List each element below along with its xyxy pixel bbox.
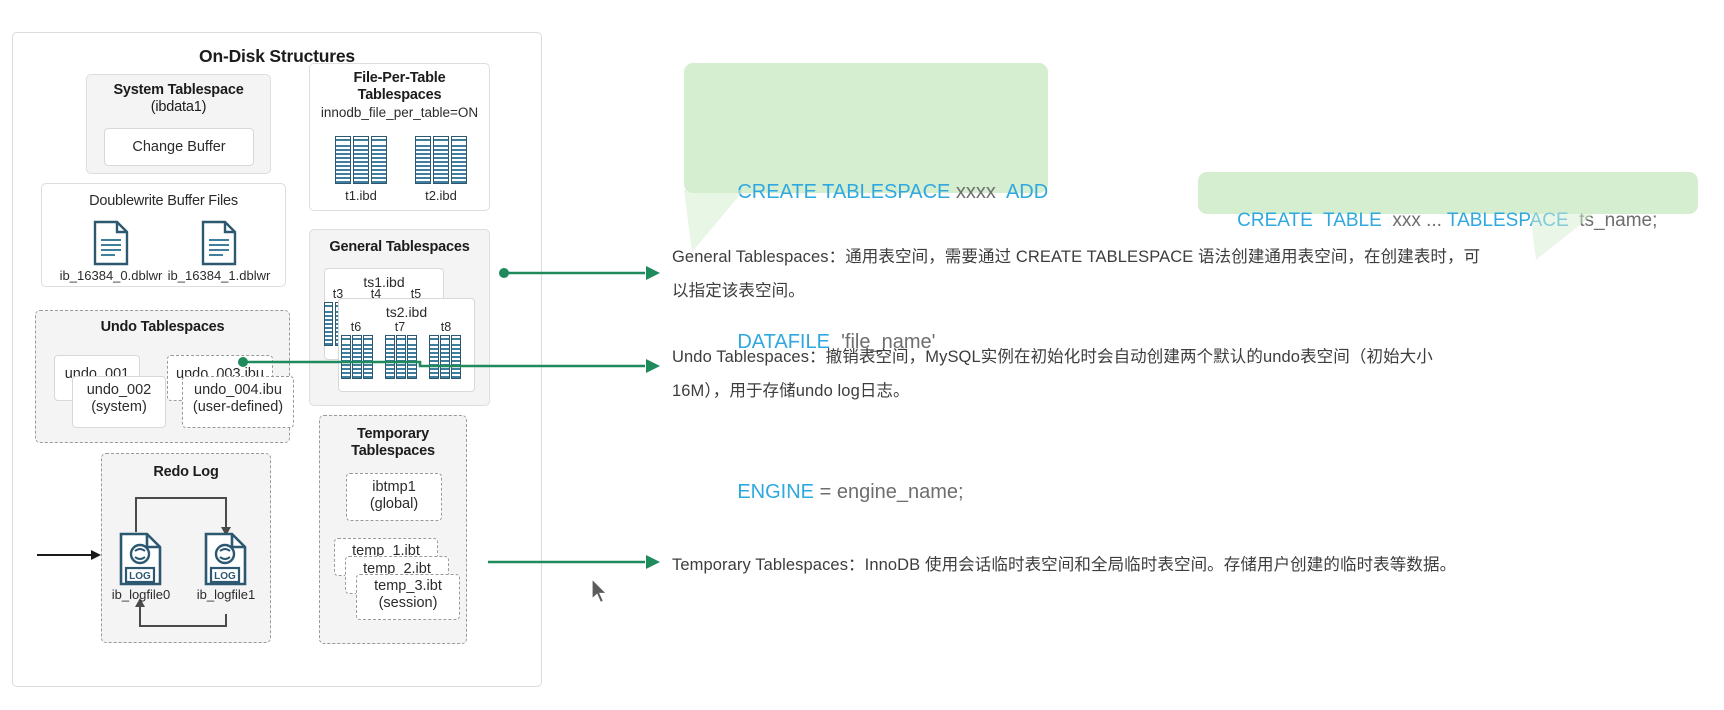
redo-log-file-icon-0: LOG <box>118 532 164 586</box>
on-disk-structures-diagram: On-Disk Structures System Tablespace (ib… <box>12 32 542 687</box>
temp-session-label: (session) <box>357 595 459 612</box>
general-tablespaces-panel: General Tablespaces ts1.ibd t3 t4 t5 ts2… <box>309 229 490 406</box>
innodb-file-per-table-setting: innodb_file_per_table=ON <box>310 103 489 121</box>
file-caption-ib-logfile1: ib_logfile1 <box>186 587 266 602</box>
redo-log-input-arrow <box>35 545 107 565</box>
undo-tablespaces-title: Undo Tablespaces <box>36 311 289 336</box>
undo-user-defined-label: (user-defined) <box>183 399 293 416</box>
file-caption-t2: t2.ibd <box>410 188 472 203</box>
ts2-table-label-t7: t7 <box>386 320 414 334</box>
undo-tablespaces-description-line2: 16M），用于存储undo log日志。 <box>672 374 1702 408</box>
redo-log-icon-text-0: LOG <box>129 571 151 582</box>
temporary-tablespaces-description: Temporary Tablespaces：InnoDB 使用会话临时表空间和全… <box>672 548 1702 582</box>
temp-3-box: temp_3.ibt (session) <box>356 574 460 620</box>
change-buffer-box: Change Buffer <box>104 128 254 166</box>
system-tablespace-title-line2: (ibdata1) <box>87 99 270 116</box>
ts2-name: ts2.ibd <box>339 299 474 320</box>
redo-log-file-icon-1: LOG <box>203 532 249 586</box>
keyword-create-table: CREATE TABLE <box>1237 210 1382 231</box>
undo-002-box: undo_002 (system) <box>72 376 166 428</box>
doublewrite-buffer-panel: Doublewrite Buffer Files ib_16384_0.dblw… <box>41 183 286 287</box>
file-per-table-title-line1: File-Per-Table <box>310 64 489 87</box>
ibtmp1-label: ibtmp1 <box>347 474 441 496</box>
temporary-tablespaces-title-line1: Temporary <box>320 416 466 443</box>
table-icon-t7 <box>385 335 417 379</box>
ibtmp1-global-label: (global) <box>347 496 441 513</box>
undo-004-label: undo_004.ibu <box>183 377 293 399</box>
temporary-tablespaces-title-line2: Tablespaces <box>320 443 466 460</box>
callout2-value-xxx: xxx ... <box>1382 210 1447 231</box>
callout-value-engine-name: = engine_name; <box>814 481 964 503</box>
general-tablespaces-description: General Tablespaces：通用表空间，需要通过 CREATE TA… <box>672 240 1702 308</box>
undo-tablespaces-panel: Undo Tablespaces undo_001 undo_002 (syst… <box>35 310 290 443</box>
callout2-value-ts-name: ts_name; <box>1569 210 1658 231</box>
system-tablespace-panel: System Tablespace (ibdata1) Change Buffe… <box>86 74 271 174</box>
doublewrite-buffer-title: Doublewrite Buffer Files <box>42 184 285 210</box>
temp-3-label: temp_3.ibt <box>357 575 459 595</box>
undo-002-label: undo_002 <box>73 377 165 399</box>
keyword-add: ADD <box>1006 181 1048 203</box>
table-icon-t2 <box>415 136 467 184</box>
undo-system-label: (system) <box>73 399 165 416</box>
temporary-tablespaces-description-line1: Temporary Tablespaces：InnoDB 使用会话临时表空间和全… <box>672 548 1702 582</box>
keyword-engine: ENGINE <box>737 481 814 503</box>
keyword-tablespace: TABLESPACE <box>1447 210 1569 231</box>
table-icon-t1 <box>335 136 387 184</box>
general-tablespaces-description-line1: General Tablespaces：通用表空间，需要通过 CREATE TA… <box>672 240 1702 274</box>
document-icon-dblwr-0 <box>92 220 130 266</box>
callout-create-table: CREATE TABLE xxx ... TABLESPACE ts_name; <box>1198 172 1698 214</box>
callout-value-xxxx: xxxx <box>950 181 1006 203</box>
redo-log-title: Redo Log <box>102 454 270 481</box>
keyword-create-tablespace: CREATE TABLESPACE <box>737 181 950 203</box>
temporary-tablespaces-panel: Temporary Tablespaces ibtmp1 (global) te… <box>319 415 467 644</box>
system-tablespace-title-line1: System Tablespace <box>87 75 270 99</box>
file-caption-ib-logfile0: ib_logfile0 <box>101 587 181 602</box>
file-per-table-title-line2: Tablespaces <box>310 87 489 104</box>
redo-log-panel: Redo Log LOG LOG ib_logfile0 ib_logfile1 <box>101 453 271 643</box>
callout-create-tablespace: CREATE TABLESPACE xxxx ADD DATAFILE 'fil… <box>684 63 1048 193</box>
redo-log-icon-text-1: LOG <box>214 571 236 582</box>
undo-tablespaces-description: Undo Tablespaces：撤销表空间，MySQL实例在初始化时会自动创建… <box>672 340 1702 408</box>
file-caption-dblwr-1: ib_16384_1.dblwr <box>152 268 286 283</box>
callout-line-3: ENGINE = engine_name; <box>704 447 1048 537</box>
ibtmp1-box: ibtmp1 (global) <box>346 473 442 521</box>
mouse-cursor <box>590 578 610 606</box>
ts2-table-label-t6: t6 <box>342 320 370 334</box>
general-tablespaces-description-line2: 以指定该表空间。 <box>672 274 1702 308</box>
document-icon-dblwr-1 <box>200 220 238 266</box>
file-per-table-panel: File-Per-Table Tablespaces innodb_file_p… <box>309 63 490 211</box>
general-tablespaces-title: General Tablespaces <box>310 230 489 256</box>
file-caption-t1: t1.ibd <box>330 188 392 203</box>
undo-004-box: undo_004.ibu (user-defined) <box>182 376 294 428</box>
callout-line-1: CREATE TABLESPACE xxxx ADD <box>704 147 1048 237</box>
table-icon-t8 <box>429 335 461 379</box>
ts2-table-label-t8: t8 <box>432 320 460 334</box>
undo-tablespaces-description-line1: Undo Tablespaces：撤销表空间，MySQL实例在初始化时会自动创建… <box>672 340 1702 374</box>
table-icon-t6 <box>341 335 373 379</box>
change-buffer-label: Change Buffer <box>132 139 225 156</box>
